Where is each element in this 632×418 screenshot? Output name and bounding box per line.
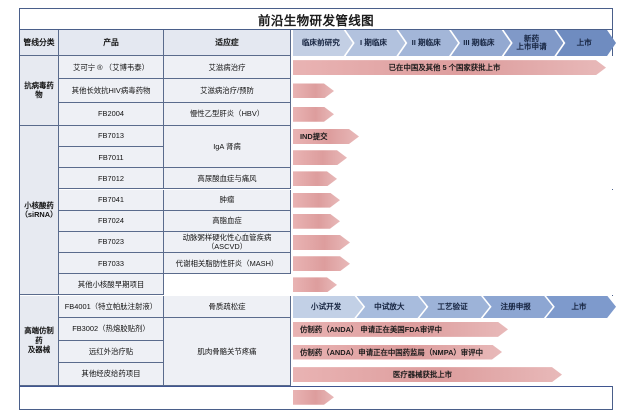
stage-4[interactable]: 注册申报 — [483, 296, 553, 319]
product-cell: FB7024 — [59, 211, 164, 232]
indication-cell: 动脉粥样硬化性心血管疾病（ASCVD） — [164, 232, 291, 253]
stage-5[interactable]: 上市 — [546, 296, 616, 319]
progress-bar[interactable]: 仿制药（ANDA） 申请正在美国FDA审评中 — [293, 322, 508, 337]
column-header-category: 管线分类 — [20, 30, 59, 56]
stage-label: 注册申报 — [501, 303, 531, 311]
progress-bar[interactable] — [293, 83, 334, 98]
stage-label: III 期临床 — [463, 39, 494, 47]
progress-bar[interactable] — [293, 150, 347, 165]
product-cell: 其他小核酸早期项目 — [59, 274, 164, 295]
product-cell: 远红外治疗贴 — [59, 341, 164, 364]
stage-1[interactable]: 临床前研究 — [293, 30, 353, 56]
product-cell: 其他长效抗HIV病毒药物 — [59, 79, 164, 102]
product-cell: FB7041 — [59, 190, 164, 211]
stage-label: 上市 — [571, 303, 586, 311]
category-cell-generic-device: 高端仿制药及器械 — [20, 296, 59, 386]
stage-label: II 期临床 — [412, 39, 441, 47]
progress-bar-label: 仿制药（ANDA） 申请正在美国FDA审评中 — [293, 324, 508, 335]
track-cell — [291, 103, 613, 126]
stage-2[interactable]: 中试放大 — [356, 296, 426, 319]
page-title: 前沿生物研发管线图 — [258, 10, 374, 29]
progress-bar[interactable] — [293, 235, 350, 250]
indication-cell: IgA 肾病 — [164, 126, 291, 168]
progress-bar[interactable] — [293, 193, 340, 208]
product-cell: 其他经皮给药项目 — [59, 363, 164, 386]
column-header-indication: 适应症 — [164, 30, 291, 56]
progress-bar[interactable] — [293, 390, 334, 405]
section-divider-generic-device — [20, 386, 612, 387]
product-cell: FB2004 — [59, 103, 164, 126]
stage-4[interactable]: III 期临床 — [451, 30, 511, 56]
stage-label: 工艺验证 — [437, 303, 467, 311]
indication-cell: 肌肉骨骼关节疼痛 — [164, 318, 291, 386]
cmc-stage-header: 小试开发中试放大工艺验证注册申报上市 — [293, 296, 609, 319]
progress-bar-label: 仿制药（ANDA）申请正在中国药监局（NMPA）审评中 — [293, 347, 502, 358]
progress-bar[interactable] — [293, 214, 340, 229]
stage-2[interactable]: I 期临床 — [346, 30, 406, 56]
product-cell: FB7013 — [59, 126, 164, 147]
product-cell: FB7011 — [59, 147, 164, 168]
progress-bar[interactable]: 医疗器械获批上市 — [293, 367, 562, 382]
track-cell — [291, 79, 613, 102]
stage-3[interactable]: 工艺验证 — [419, 296, 489, 319]
stage-6[interactable]: 上市 — [556, 30, 616, 56]
stage-label: 小试开发 — [311, 303, 341, 311]
product-cell: FB4001（特立帕肽注射液） — [59, 296, 164, 319]
indication-cell: 慢性乙型肝炎（HBV） — [164, 103, 291, 126]
chart-title-bar: 前沿生物研发管线图 — [20, 9, 612, 30]
indication-cell: 高脂血症 — [164, 211, 291, 232]
category-cell-antiviral: 抗病毒药物 — [20, 56, 59, 126]
progress-bar-label: IND提交 — [293, 131, 359, 142]
track-cell — [291, 168, 613, 189]
indication-cell: 艾滋病治疗 — [164, 56, 291, 79]
indication-cell: 代谢相关脂肪性肝炎（MASH） — [164, 253, 291, 274]
product-cell: 艾可宁 ® （艾博韦泰） — [59, 56, 164, 79]
stage-5[interactable]: 新药上市申请 — [504, 30, 564, 56]
progress-bar[interactable]: IND提交 — [293, 129, 359, 144]
indication-cell: 艾滋病治疗/预防 — [164, 79, 291, 102]
progress-bar[interactable] — [293, 277, 337, 292]
stage-1[interactable]: 小试开发 — [293, 296, 363, 319]
stage-label: 上市 — [577, 39, 592, 47]
clinical-stage-header: 临床前研究I 期临床II 期临床III 期临床新药上市申请上市 — [293, 30, 609, 56]
pipeline-chart: 前沿生物研发管线图 管线分类产品适应症临床前研究I 期临床II 期临床III 期… — [19, 8, 613, 410]
indication-cell: 肿瘤 — [164, 190, 291, 211]
progress-bar[interactable]: 仿制药（ANDA）申请正在中国药监局（NMPA）审评中 — [293, 345, 502, 360]
indication-cell: 高尿酸血症与痛风 — [164, 168, 291, 189]
progress-bar[interactable] — [293, 171, 337, 186]
stage-label: 临床前研究 — [302, 39, 340, 47]
progress-bar[interactable] — [293, 256, 350, 271]
column-header-product: 产品 — [59, 30, 164, 56]
progress-bar[interactable] — [293, 107, 334, 122]
product-cell: FB7023 — [59, 232, 164, 253]
progress-bar-label: 已在中国及其他 5 个国家获批上市 — [293, 62, 606, 73]
stage-3[interactable]: II 期临床 — [398, 30, 458, 56]
category-cell-sirna: 小核酸药（siRNA） — [20, 126, 59, 296]
product-cell: FB7012 — [59, 168, 164, 189]
stage-label: 新药上市申请 — [516, 35, 546, 52]
stage-label: I 期临床 — [360, 39, 387, 47]
progress-bar[interactable]: 已在中国及其他 5 个国家获批上市 — [293, 60, 606, 75]
product-cell: FB3002（热熔胶贴剂） — [59, 318, 164, 341]
indication-cell: 骨质疏松症 — [164, 296, 291, 319]
track-cell — [291, 274, 613, 295]
progress-bar-label: 医疗器械获批上市 — [293, 369, 562, 380]
stage-label: 中试放大 — [374, 303, 404, 311]
product-cell: FB7033 — [59, 253, 164, 274]
